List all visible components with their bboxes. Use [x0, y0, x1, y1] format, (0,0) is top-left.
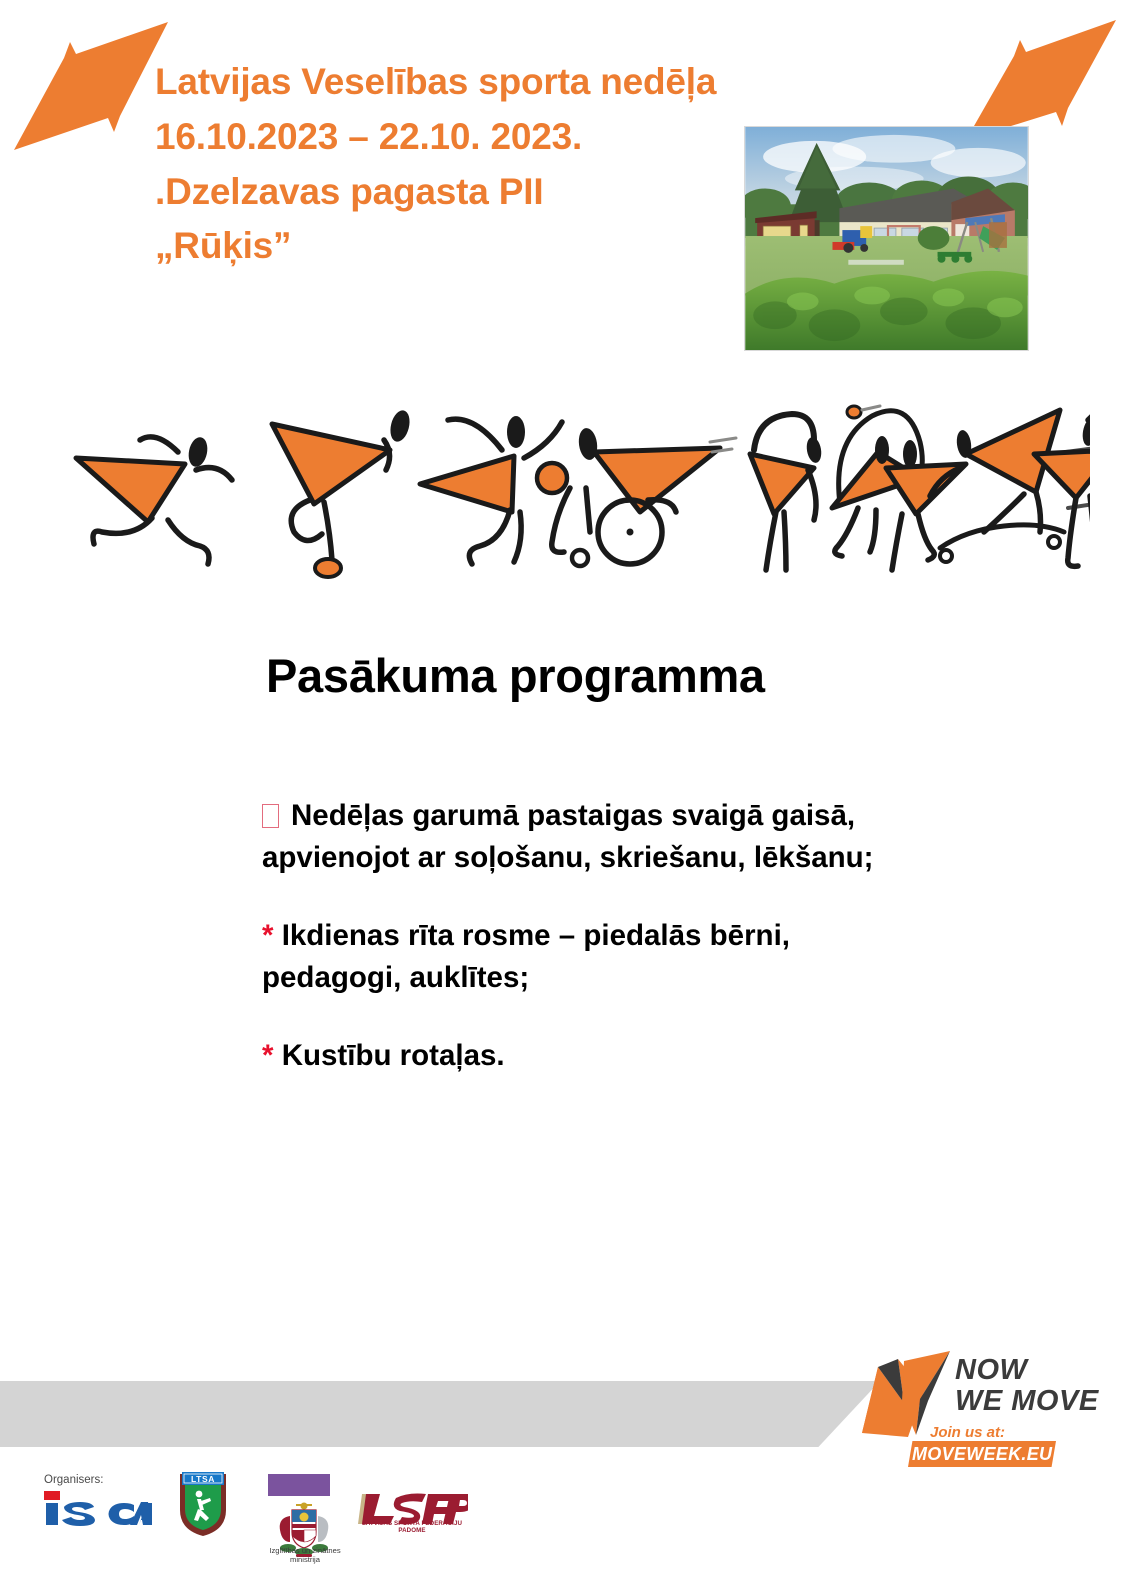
program-item: * Kustību rotaļas.: [262, 1035, 922, 1077]
program-item: * Ikdienas rīta rosme – piedalās bērni, …: [262, 915, 922, 999]
orange-burst-icon-right: [958, 8, 1123, 143]
poster-canvas: Latvijas Veselības sporta nedēļa 16.10.2…: [0, 0, 1123, 1588]
wheelchair-figure-icon: [537, 427, 736, 566]
tofu-bullet-icon: [262, 804, 279, 828]
program-item: Nedēļas garumā pastaigas svaigā gaisā, a…: [262, 795, 922, 879]
moveweek-url-label[interactable]: MOVEWEEK.EU: [912, 1444, 1052, 1465]
organisers-label: Organisers:: [44, 1474, 103, 1486]
program-heading: Pasākuma programma: [266, 648, 765, 703]
stick-figure-band: [60, 392, 1090, 582]
now-we-move-wordmark: NOW WE MOVE: [955, 1355, 1099, 1417]
kindergarten-photo: [744, 126, 1029, 351]
isca-logo: [42, 1489, 152, 1527]
program-item-text: Kustību rotaļas.: [282, 1039, 505, 1072]
ltsa-logo: LTSA: [176, 1468, 230, 1538]
program-item-text: Nedēļas garumā pastaigas svaigā gaisā, a…: [262, 799, 874, 874]
footer-gray-band: [0, 1381, 880, 1447]
svg-text:LTSA: LTSA: [191, 1474, 215, 1484]
asterisk-bullet-icon: *: [262, 919, 273, 952]
join-us-label: Join us at:: [930, 1424, 1005, 1441]
program-list: Nedēļas garumā pastaigas svaigā gaisā, a…: [262, 795, 922, 1076]
football-figure-icon: [272, 408, 413, 577]
running-figure-icon: [76, 435, 232, 564]
izm-logo-caption: Izglītības un zinātnes ministrija: [258, 1546, 352, 1565]
asterisk-bullet-icon: *: [262, 1039, 273, 1072]
page-title: Latvijas Veselības sporta nedēļa 16.10.2…: [155, 55, 755, 274]
lsfp-logo-caption: LATVIJAS SPORTA FEDERĀCIJU PADOME: [356, 1520, 468, 1534]
program-item-text: Ikdienas rīta rosme – piedalās bērni, pe…: [262, 919, 790, 994]
